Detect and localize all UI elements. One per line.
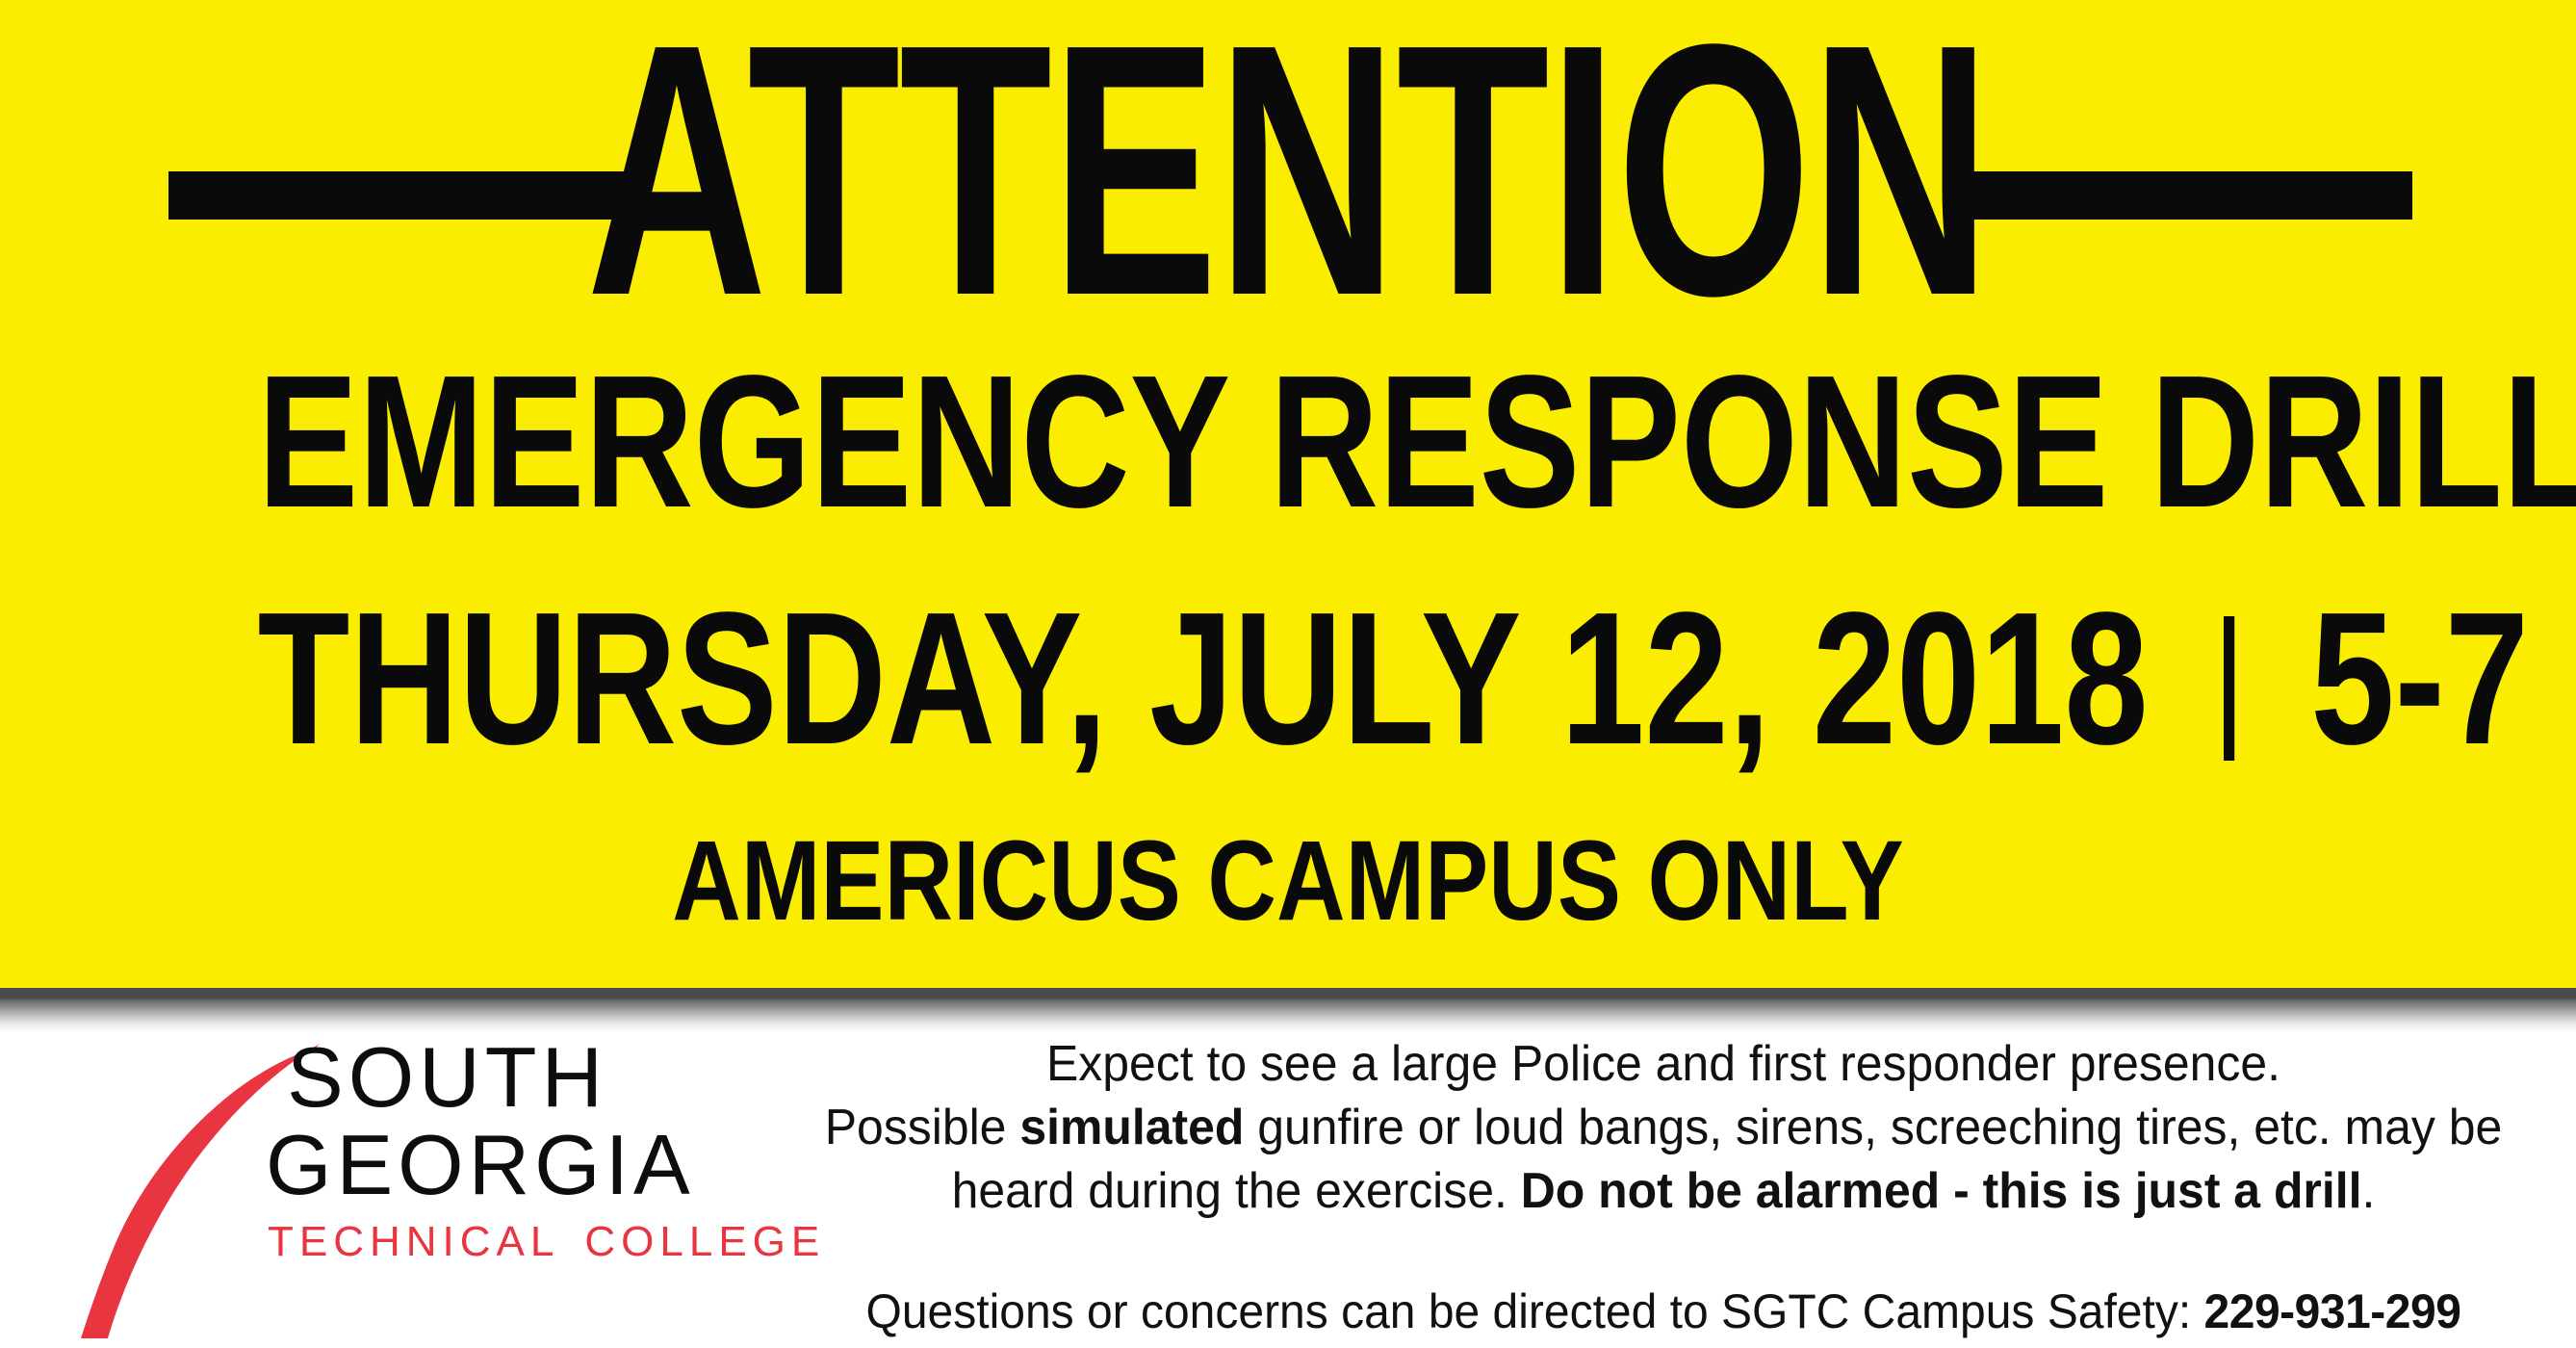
sgtc-logo-wordmark: SOUTH GEORGIA TECHNICALCOLLEGE <box>266 1034 728 1266</box>
contact-phone-number[interactable]: 229-931-299 <box>2204 1284 2461 1338</box>
description-sentence-2-pre: Possible <box>825 1100 1020 1155</box>
pipe-separator-icon <box>2224 616 2234 761</box>
description-sentence-3-post: . <box>2361 1163 2375 1219</box>
drill-time: 5-7 PM <box>2310 573 2576 784</box>
logo-line-georgia: GEORGIA <box>266 1122 728 1209</box>
drill-scope-line: AMERICUS CAMPUS ONLY <box>206 809 2370 953</box>
drill-date: THURSDAY, JULY 12, 2018 <box>258 573 2149 784</box>
description-emphasis-simulated: simulated <box>1019 1100 1244 1155</box>
drill-subject-line: EMERGENCY RESPONSE DRILL <box>258 322 2319 562</box>
contact-line: Questions or concerns can be directed to… <box>787 1283 2539 1340</box>
footer-copy: Expect to see a large Police and first r… <box>751 1032 2576 1340</box>
drill-description: Expect to see a large Police and first r… <box>787 1032 2539 1223</box>
headline-row: ATTENTION <box>0 0 2576 339</box>
sgtc-logo: SOUTH GEORGIA TECHNICALCOLLEGE <box>39 1024 732 1342</box>
headline-attention: ATTENTION <box>386 0 2189 339</box>
logo-line-south: SOUTH <box>266 1034 728 1122</box>
footer-band: SOUTH GEORGIA TECHNICALCOLLEGE Expect to… <box>0 1032 2576 1348</box>
contact-label: Questions or concerns can be directed to… <box>866 1284 2204 1338</box>
description-sentence-1: Expect to see a large Police and first r… <box>1046 1036 2280 1092</box>
drill-datetime-line: THURSDAY, JULY 12, 2018 5-7 PM <box>258 558 2319 799</box>
logo-word-technical: TECHNICAL <box>268 1218 559 1265</box>
description-emphasis-reassurance: Do not be alarmed - this is just a drill <box>1521 1163 2362 1219</box>
logo-line-technical-college: TECHNICALCOLLEGE <box>266 1218 728 1266</box>
alert-panel: ATTENTION EMERGENCY RESPONSE DRILL THURS… <box>0 0 2576 988</box>
emergency-drill-poster: ATTENTION EMERGENCY RESPONSE DRILL THURS… <box>0 0 2576 1348</box>
